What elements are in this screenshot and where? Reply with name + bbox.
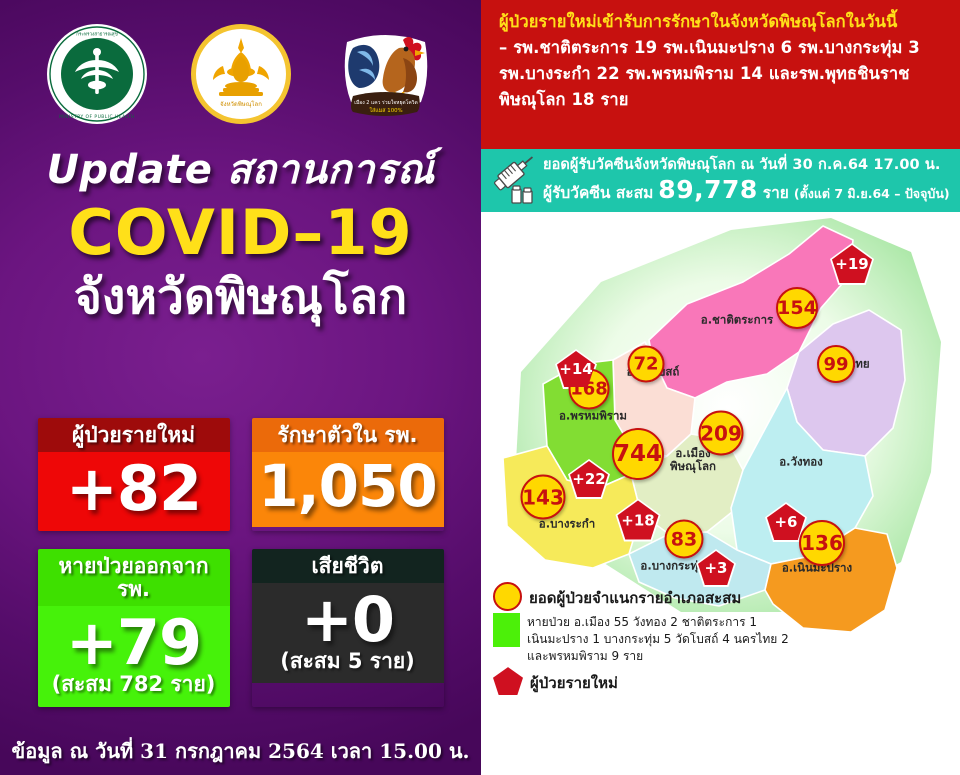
map-marker-cumulative-bang-krathum[interactable]: 83 [665,520,704,559]
logo-row: กระทรวงสาธารณสุข MINISTRY OF PUBLIC HEAL… [0,14,481,134]
map-marker-cumulative-chat-trakan[interactable]: 154 [776,287,818,329]
legend-recovered-square-icon [493,613,520,647]
map-label-bang-krathum: อ.บางกระทุ่ม [640,559,705,572]
vaccination-text: ยอดผู้รับวัคซีนจังหวัดพิษณุโลก ณ วันที่ … [541,156,960,205]
title-update: Update สถานการณ์ [0,150,481,190]
vaccination-banner: ยอดผู้รับวัคซีนจังหวัดพิษณุโลก ณ วันที่ … [481,149,960,212]
title-covid: COVID–19 [0,202,481,264]
vaccination-period-note: (ตั้งแต่ 7 มิ.ย.64 – ปัจจุบัน) [794,186,950,202]
vaccination-asof-line: ยอดผู้รับวัคซีนจังหวัดพิษณุโลก ณ วันที่ … [543,156,960,174]
legend-cumulative-label: ยอดผู้ป่วยจำแนกรายอำเภอสะสม [529,582,741,610]
stat-card-in-hospital: รักษาตัวใน รพ. 1,050 [252,418,444,531]
stat-value-in-hospital: 1,050 [254,456,442,517]
stat-sub-deaths: (สะสม 5 ราย) [254,650,442,673]
map-marker-cumulative-wang-thong[interactable]: 209 [699,411,744,456]
stat-value-new-cases: +82 [40,456,228,521]
legend-recovered-lines: หายป่วย อ.เมือง 55 วังทอง 2 ชาติตระการ 1… [527,613,789,665]
vaccination-total-unit: ราย [763,184,789,203]
legend-recovered-line-1: หายป่วย อ.เมือง 55 วังทอง 2 ชาติตระการ 1 [527,614,789,631]
stat-value-recovered: +79 [40,610,228,675]
banner-line-2: – รพ.ชาติตระการ 19 รพ.เนินมะปราง 6 รพ.บา… [499,35,946,61]
legend-row-recovered: หายป่วย อ.เมือง 55 วังทอง 2 ชาติตระการ 1… [493,613,823,665]
stat-sub-recovered: (สะสม 782 ราย) [40,673,228,696]
legend-new-case-pentagon-icon [493,667,523,695]
map-marker-cumulative-mueang-phitsanulok[interactable]: 744 [612,428,664,480]
infographic-canvas: กระทรวงสาธารณสุข MINISTRY OF PUBLIC HEAL… [0,0,960,775]
right-panel: ผู้ป่วยรายใหม่เข้ารับการรักษาในจังหวัดพิ… [481,0,960,775]
legend-recovered-line-3: และพรหมพิราม 9 ราย [527,648,789,665]
map-label-phrom-phiram: อ.พรหมพิราม [559,409,627,422]
legend-recovered-line-2: เนินมะปราง 1 บางกระทุ่ม 5 วัดโบสถ์ 4 นคร… [527,631,789,648]
title-block: Update สถานการณ์ COVID–19 จังหวัดพิษณุโล… [0,150,481,322]
banner-line-1: ผู้ป่วยรายใหม่เข้ารับการรักษาในจังหวัดพิ… [499,9,946,35]
stat-card-new-cases: ผู้ป่วยรายใหม่ +82 [38,418,230,531]
stat-head-recovered: หายป่วยออกจาก รพ. [38,549,230,606]
map-marker-cumulative-nakhon-thai[interactable]: 99 [817,345,855,383]
map-marker-cumulative-noen-maprang[interactable]: 136 [799,520,845,566]
stat-head-deaths: เสียชีวิต [252,549,444,583]
stat-value-deaths: +0 [254,587,442,652]
title-province: จังหวัดพิษณุโลก [0,272,481,322]
map-marker-cumulative-wat-bot[interactable]: 72 [628,346,665,383]
map-label-chat-trakan: อ.ชาติตระการ [701,313,773,326]
stat-card-recovered: หายป่วยออกจาก รพ. +79 (สะสม 782 ราย) [38,549,230,706]
legend-new-case-label: ผู้ป่วยรายใหม่ [530,667,618,695]
vaccination-total-value: 89,778 [658,174,757,205]
syringe-vaccine-icon [485,153,541,209]
legend-row-new-cases: ผู้ป่วยรายใหม่ [493,667,823,695]
legend-row-cumulative: ยอดผู้ป่วยจำแนกรายอำเภอสะสม [493,582,823,611]
ministry-of-public-health-logo: กระทรวงสาธารณสุข MINISTRY OF PUBLIC HEAL… [45,22,149,126]
stat-head-in-hospital: รักษาตัวใน รพ. [252,418,444,452]
svg-text:เมือง 2 แคว ร่วมใจหยุดโควิด: เมือง 2 แคว ร่วมใจหยุดโควิด [354,99,418,106]
stat-card-deaths: เสียชีวิต +0 (สะสม 5 ราย) [252,549,444,706]
vaccination-total-label: ผู้รับวัคซีน สะสม [543,184,653,203]
data-timestamp: ข้อมูล ณ วันที่ 31 กรกฎาคม 2564 เวลา 15.… [0,735,481,767]
left-panel: กระทรวงสาธารณสุข MINISTRY OF PUBLIC HEAL… [0,0,481,775]
stat-grid: ผู้ป่วยรายใหม่ +82 รักษาตัวใน รพ. 1,050 … [0,418,481,707]
map-marker-cumulative-bang-rakam[interactable]: 143 [521,475,566,520]
new-admissions-banner: ผู้ป่วยรายใหม่เข้ารับการรักษาในจังหวัดพิ… [481,0,960,149]
phitsanulok-district-map[interactable]: อ.ชาติตระการ อ.นครไทย อ.วัดโบสถ์ อ.พรหมพ… [481,212,960,775]
stat-head-new-cases: ผู้ป่วยรายใหม่ [38,418,230,452]
legend-cumulative-circle-icon [493,582,522,611]
map-legend: ยอดผู้ป่วยจำแนกรายอำเภอสะสม หายป่วย อ.เม… [493,582,823,697]
svg-text:ใส่แมส 100%: ใส่แมส 100% [369,106,402,114]
svg-text:กระทรวงสาธารณสุข: กระทรวงสาธารณสุข [76,32,117,38]
map-label-wang-thong: อ.วังทอง [779,455,822,468]
svg-text:จังหวัดพิษณุโลก: จังหวัดพิษณุโลก [220,100,262,108]
banner-line-4: พิษณุโลก 18 ราย [499,87,946,113]
svg-text:MINISTRY OF PUBLIC HEALTH: MINISTRY OF PUBLIC HEALTH [59,114,135,120]
banner-line-3: รพ.บางระกำ 22 รพ.พรหมพิราม 14 และรพ.พุทธ… [499,61,946,87]
phitsanulok-province-seal: จังหวัดพิษณุโลก [189,22,293,126]
map-label-bang-rakam: อ.บางระกำ [539,517,595,530]
rooster-campaign-logo: เมือง 2 แคว ร่วมใจหยุดโควิด ใส่แมส 100% [333,22,437,126]
